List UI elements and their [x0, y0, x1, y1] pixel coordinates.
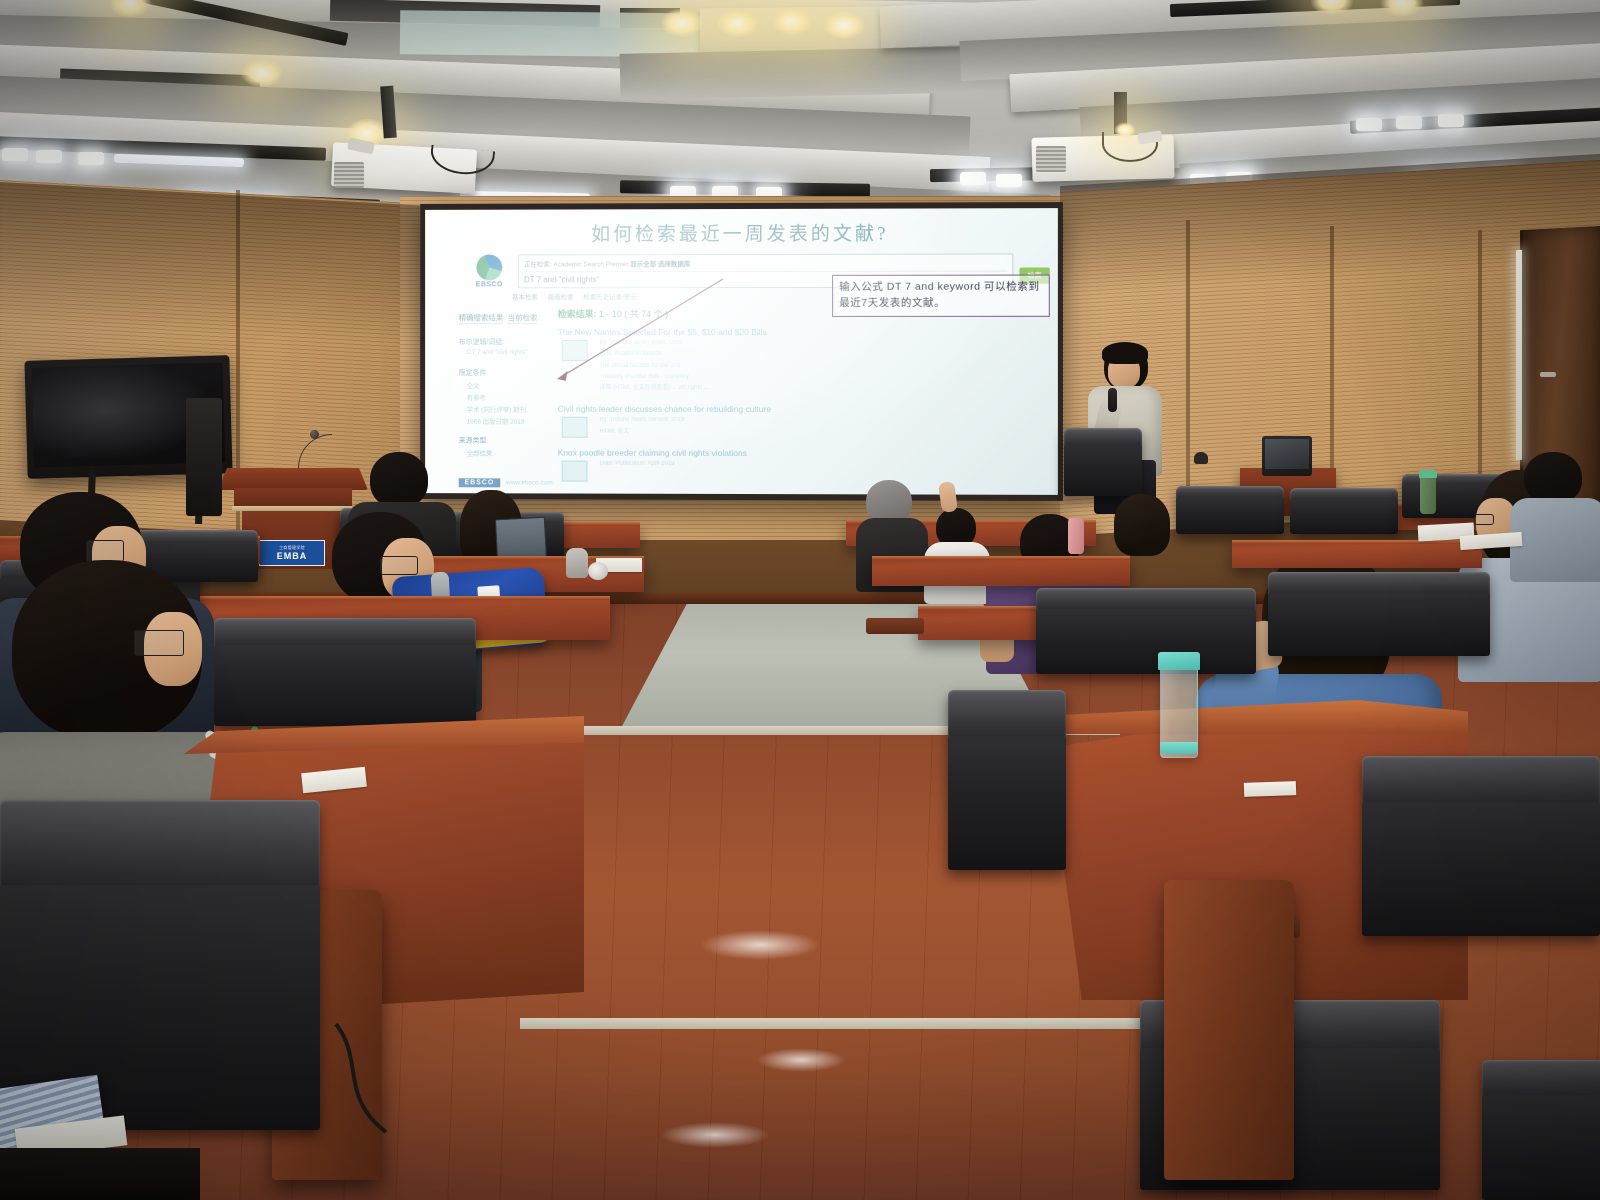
sidebar-boolean-value: DT 7 and "civil rights": [467, 349, 552, 356]
person-head: [1524, 452, 1582, 504]
audience-member: [1510, 452, 1600, 572]
person-top: [1510, 498, 1600, 582]
result-meta: 刊名: Academic Search: [558, 350, 1050, 359]
searching-label: 正在检索:: [524, 261, 552, 268]
wooden-chair-frame: [1164, 880, 1294, 1180]
sidebar-current-search: 当前检索: [508, 312, 538, 324]
result-title[interactable]: Knox poodle breeder claiming civil right…: [558, 448, 1050, 459]
ebsco-footer-url: www.ebsco.com: [506, 479, 553, 486]
water-bottle-pink: [1068, 518, 1084, 554]
seat: [1482, 1060, 1600, 1200]
ceiling-spotlight-warm: [716, 8, 760, 38]
ceiling-downlight: [996, 174, 1022, 187]
ebsco-swoosh-icon: [476, 254, 502, 280]
result-meta: Treasury of Dollar Bills - Currency: [558, 373, 1050, 383]
ceiling-downlight: [960, 172, 986, 185]
lecture-hall-photo: 如何检索最近一周发表的文献? EBSCO 正在检索: Academic Sear…: [0, 0, 1600, 1200]
results-total: ( 共 74 个 ): [624, 309, 668, 319]
presenter-hair: [1102, 342, 1148, 364]
presentation-slide: 如何检索最近一周发表的文献? EBSCO 正在检索: Academic Sear…: [425, 208, 1058, 495]
seat: [1362, 756, 1600, 936]
tab-search-history[interactable]: 检索历史记录/警示: [583, 294, 637, 301]
ceiling-spotlight-warm: [660, 8, 704, 38]
seat: [1176, 486, 1284, 534]
sidebar-option[interactable]: 有参考: [467, 392, 552, 402]
bottle-base: [1160, 742, 1198, 754]
sidebar-extra: 全部结果: [467, 447, 552, 457]
annotation-callout: 输入公式 DT 7 and keyword 可以检索到最近7天发表的文献。: [832, 275, 1050, 317]
person-hair: [1114, 494, 1170, 556]
stage-mic: [1194, 452, 1208, 464]
annotation-text: 输入公式 DT 7 and keyword 可以检索到最近7天发表的文献。: [839, 280, 1043, 312]
microphone: [1108, 388, 1117, 412]
ceiling-projector-left: [332, 128, 480, 204]
show-all-link[interactable]: 显示全部: [630, 261, 656, 268]
sidebar-option[interactable]: 学术 (同行评审) 期刊: [467, 404, 552, 414]
seat: [1268, 572, 1490, 656]
slide-title: 如何检索最近一周发表的文献?: [433, 218, 1050, 246]
seat: [1036, 588, 1256, 674]
ebsco-logo: EBSCO: [467, 254, 513, 288]
result-meta: 详情 (HTML 全文在线查看) ... art rights ...: [558, 384, 1050, 394]
eyeglasses: [1474, 514, 1494, 525]
thermos-cup: [566, 548, 588, 578]
results-range: 1 - 10: [599, 309, 622, 319]
bottle-cap: [1419, 470, 1437, 478]
result-item[interactable]: Civil rights leader discusses chance for…: [558, 404, 1050, 437]
ceiling-downlight: [36, 150, 62, 163]
result-title[interactable]: Civil rights leader discusses chance for…: [558, 404, 1050, 415]
database-name: Academic Search Premier: [553, 261, 628, 268]
projection-screen: 如何检索最近一周发表的文献? EBSCO 正在检索: Academic Sear…: [420, 202, 1063, 501]
person-head: [370, 452, 428, 508]
slide-footer: EBSCO www.ebsco.com: [459, 478, 553, 487]
result-meta: The official records for the U.S.: [558, 362, 1050, 371]
slide-results: 检索结果: 1 - 10 ( 共 74 个 ) The New Names Se…: [552, 307, 1050, 483]
seat: [948, 690, 1066, 870]
water-bottle-green: [1420, 474, 1436, 514]
bottle-cap: [1158, 652, 1200, 670]
eyeglasses: [86, 540, 124, 562]
seat: [0, 800, 320, 1130]
desk: [1232, 540, 1482, 568]
stage-chair: [1064, 428, 1142, 496]
result-meta: By: Gamble, Justin Wells. CNN: [558, 339, 1050, 348]
desk: [872, 556, 1130, 586]
paper-sheet: [1244, 781, 1296, 797]
result-meta: Date: Publication: April 2019: [558, 460, 1050, 470]
tab-basic-search[interactable]: 基本检索: [512, 294, 538, 301]
tab-advanced-search[interactable]: 高级检索: [548, 294, 574, 301]
ceiling-downlight: [78, 152, 104, 165]
search-context-line: 正在检索: Academic Search Premier 显示全部 选择数据库: [524, 258, 1007, 269]
floor-cable: [330, 1020, 470, 1140]
sidebar-heading: 精确搜索结果: [459, 312, 504, 324]
door-light-gap: [1516, 250, 1522, 460]
ceiling-spotlight-warm: [240, 58, 284, 88]
sidebar-option[interactable]: 全文: [467, 380, 552, 390]
stage-monitor: [1262, 436, 1312, 476]
ceiling-spotlight-warm: [822, 10, 866, 40]
ceiling-downlight: [1356, 118, 1382, 131]
ceiling-downlight: [1396, 116, 1422, 129]
result-item[interactable]: Knox poodle breeder claiming civil right…: [558, 448, 1050, 470]
sidebar-extra: 来源类型: [459, 436, 552, 446]
eyeglasses: [380, 556, 418, 575]
floor-step: [520, 1018, 1180, 1029]
door-handle[interactable]: [1540, 372, 1556, 377]
sidebar-boolean-label: 布尔逻辑/词组:: [459, 337, 552, 347]
ceiling-downlight: [1438, 114, 1464, 127]
ceiling-spotlight-warm: [770, 6, 814, 36]
sidebar-extra: 1966 出版日期 2019: [467, 416, 552, 426]
podium-microphone-head: [310, 430, 319, 439]
result-item[interactable]: The New Names Selected For the $5, $10 a…: [558, 327, 1050, 394]
result-meta: By: Tribune News Service; 2019: [558, 416, 1050, 426]
sidebar-limit-label: 限定条件: [459, 368, 552, 378]
choose-database-link[interactable]: 选择数据库: [658, 261, 690, 268]
result-title[interactable]: The New Names Selected For the $5, $10 a…: [558, 327, 1050, 337]
seat: [1290, 488, 1398, 534]
chair-armrest: [866, 618, 924, 634]
results-count-label: 检索结果:: [558, 309, 597, 319]
eyeglasses: [134, 630, 184, 656]
ebsco-wordmark: EBSCO: [467, 281, 513, 288]
ebsco-footer-logo: EBSCO: [459, 478, 500, 487]
ceiling-downlight: [2, 148, 28, 161]
result-meta: HTML 全文: [558, 428, 1050, 438]
tape-roll: [588, 562, 608, 580]
